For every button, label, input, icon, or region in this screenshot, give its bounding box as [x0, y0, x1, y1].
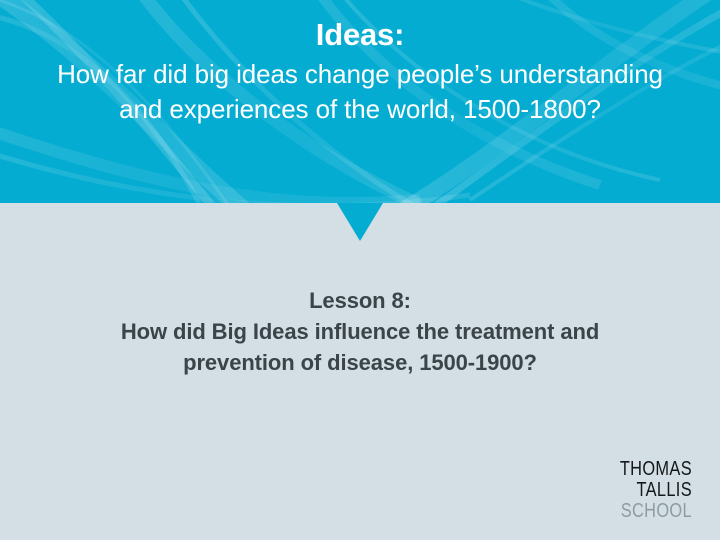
lesson-body-block: Lesson 8: How did Big Ideas influence th… — [0, 285, 720, 379]
lesson-line-2: How did Big Ideas influence the treatmen… — [20, 316, 700, 347]
header-band: Ideas: How far did big ideas change peop… — [0, 0, 720, 203]
logo-line-tallis: TALLIS — [620, 480, 692, 500]
header-text-group: Ideas: How far did big ideas change peop… — [0, 0, 720, 203]
slide-title: Ideas: — [316, 18, 404, 51]
logo-line-thomas: THOMAS — [620, 459, 692, 479]
lesson-line-3: prevention of disease, 1500-1900? — [20, 347, 700, 378]
lesson-line-1: Lesson 8: — [20, 285, 700, 316]
logo-line-school: SCHOOL — [620, 501, 692, 521]
slide-subtitle: How far did big ideas change people’s un… — [50, 57, 670, 126]
slide: Ideas: How far did big ideas change peop… — [0, 0, 720, 540]
pointer-triangle-icon — [337, 203, 383, 241]
school-logo: THOMAS TALLIS SCHOOL — [604, 459, 692, 522]
